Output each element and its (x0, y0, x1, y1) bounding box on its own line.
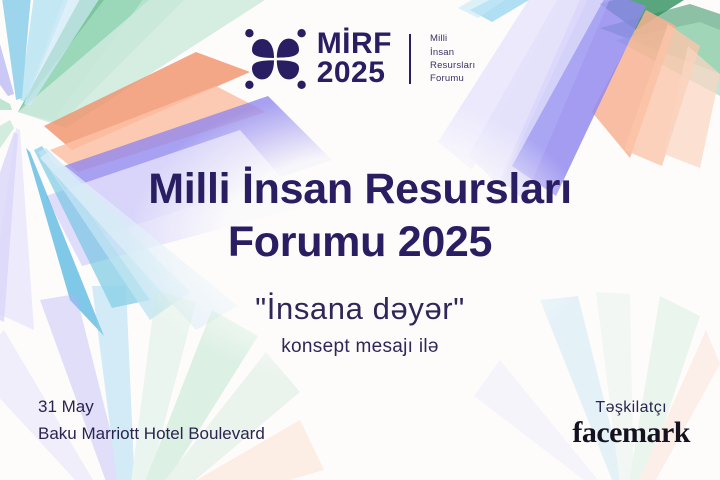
concept-slogan: "İnsana dəyər" (0, 291, 720, 327)
organizer-label: Təşkilatçı (572, 399, 690, 417)
logo-tagline-line-4: Forumu (430, 72, 475, 85)
page-title: Milli İnsan Resursları Forumu 2025 (0, 163, 720, 270)
logo-wordmark-line1: MİRF (317, 30, 392, 59)
organizer-block: Təşkilatçı facemark (572, 399, 690, 449)
organizer-logo-facemark: facemark (572, 418, 690, 449)
logo-divider (409, 34, 411, 84)
event-poster: MİRF 2025 Milli İnsan Resursları Forumu … (0, 0, 720, 480)
concept-subtext: konsept mesajı ilə (0, 336, 720, 358)
mirf-logo-lockup: MİRF 2025 Milli İnsan Resursları Forumu (0, 28, 720, 90)
logo-tagline-line-1: Milli (430, 32, 475, 45)
event-location: Baku Marriott Hotel Boulevard (38, 420, 265, 448)
mirf-clover-mark (245, 28, 307, 90)
logo-wordmark-line2: 2025 (317, 59, 392, 88)
mirf-wordmark: MİRF 2025 (317, 30, 392, 88)
event-date: 31 May (38, 393, 265, 421)
event-venue-block: 31 May Baku Marriott Hotel Boulevard (38, 393, 265, 448)
logo-tagline: Milli İnsan Resursları Forumu (430, 32, 475, 86)
logo-tagline-line-2: İnsan (430, 46, 475, 59)
logo-tagline-line-3: Resursları (430, 59, 475, 72)
